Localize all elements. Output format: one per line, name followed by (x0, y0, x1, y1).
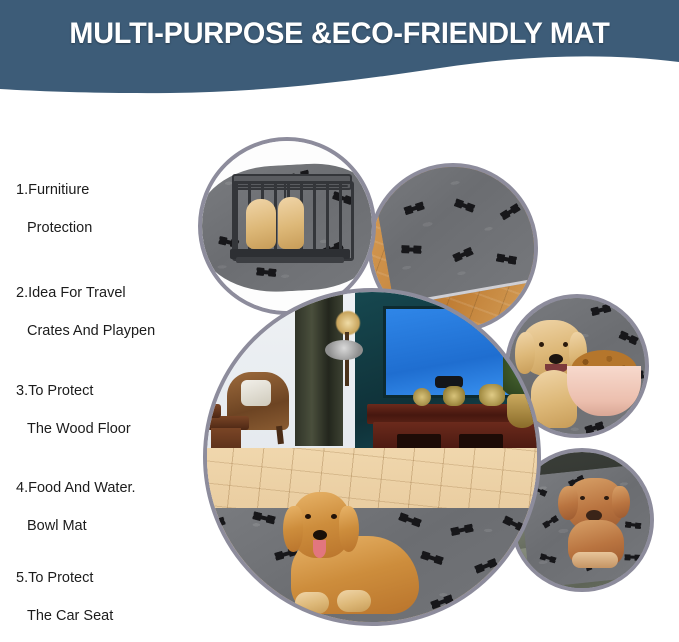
retriever-eye-right (331, 514, 337, 519)
console-decor-vase (413, 388, 431, 406)
lamp-ornament (325, 340, 363, 360)
bone-print (627, 555, 637, 558)
bone-print (435, 598, 450, 607)
console-decor-urn (479, 384, 505, 406)
retriever-paw-right (337, 590, 371, 612)
bone-print (545, 518, 555, 526)
puppy-eye-left (580, 496, 585, 500)
bone-print (628, 523, 638, 527)
bone-print (543, 555, 553, 561)
list-item: 2.Idea For Travel Crates And Playpen (16, 265, 155, 360)
bone-print (504, 207, 517, 217)
console-decor-bowl (443, 386, 465, 406)
feature-line-1: 2.Idea For Travel (16, 284, 155, 303)
bone-print (523, 551, 537, 557)
list-item: 5.To Protect The Car Seat (16, 550, 113, 642)
decor-planter (507, 394, 537, 428)
bone-print (223, 558, 237, 567)
infographic-canvas: MULTI-PURPOSE &ECO-FRIENDLY MAT 1.Furnit… (0, 0, 679, 642)
bone-print (263, 601, 277, 610)
list-item: 4.Food And Water. Bowl Mat (16, 460, 136, 555)
puppy-paws (572, 552, 618, 568)
list-item: 1.Furnitiure Protection (16, 162, 92, 257)
bone-print (491, 592, 506, 600)
bone-print (403, 516, 418, 525)
retriever-ear-right (339, 506, 359, 552)
page-title: MULTI-PURPOSE &ECO-FRIENDLY MAT (14, 17, 666, 51)
feature-line-2: The Car Seat (16, 607, 113, 626)
retriever-paw-left (295, 592, 329, 614)
bone-print (405, 247, 418, 251)
armchair-pillow (241, 380, 271, 406)
bone-print (458, 202, 472, 210)
bone-print (484, 167, 497, 169)
bone-print (589, 424, 601, 431)
bone-print (207, 594, 217, 601)
bone-print (507, 519, 521, 529)
retriever-nose (313, 530, 327, 540)
mat-surface (372, 167, 534, 306)
feature-line-2: Protection (16, 219, 92, 238)
feature-line-1: 5.To Protect (16, 569, 113, 588)
bone-print (257, 514, 272, 521)
feature-line-1: 4.Food And Water. (16, 479, 136, 498)
feature-line-1: 1.Furnitiure (16, 181, 92, 200)
feature-line-2: Bowl Mat (16, 517, 136, 536)
bone-print (407, 205, 421, 213)
dog-eye-right (563, 342, 568, 347)
dog-nose (549, 354, 563, 364)
bone-print (425, 554, 440, 562)
retriever-eye-left (305, 514, 311, 519)
crate-feet (236, 257, 344, 263)
retriever-tongue (313, 540, 326, 558)
photo-crate (198, 137, 376, 315)
feature-line-2: Crates And Playpen (16, 322, 155, 341)
puppy-eye-right (604, 496, 609, 500)
side-table-object (207, 404, 221, 418)
dog-in-crate (246, 199, 276, 249)
bone-print (479, 562, 493, 571)
retriever-ear-left (283, 506, 303, 552)
bone-print (500, 256, 513, 262)
feature-line-1: 3.To Protect (16, 382, 131, 401)
bone-print (260, 270, 272, 275)
dog-in-crate-second (278, 197, 304, 249)
puppy-ear-left (558, 486, 578, 520)
bone-print (456, 250, 470, 259)
bone-print (389, 171, 403, 178)
dog-eye-left (539, 342, 544, 347)
bone-print (595, 307, 608, 314)
list-item: 3.To Protect The Wood Floor (16, 363, 131, 458)
crate-crossbar (232, 185, 348, 187)
photo-living-room (203, 288, 541, 626)
bone-print (455, 527, 470, 534)
bone-print (207, 520, 221, 528)
puppy-ear-right (612, 486, 630, 518)
photo-living-room-content (207, 292, 537, 622)
bone-print (623, 334, 635, 342)
feature-line-2: The Wood Floor (16, 420, 131, 439)
header-banner: MULTI-PURPOSE &ECO-FRIENDLY MAT (0, 0, 679, 100)
photo-crate-content (202, 141, 372, 311)
